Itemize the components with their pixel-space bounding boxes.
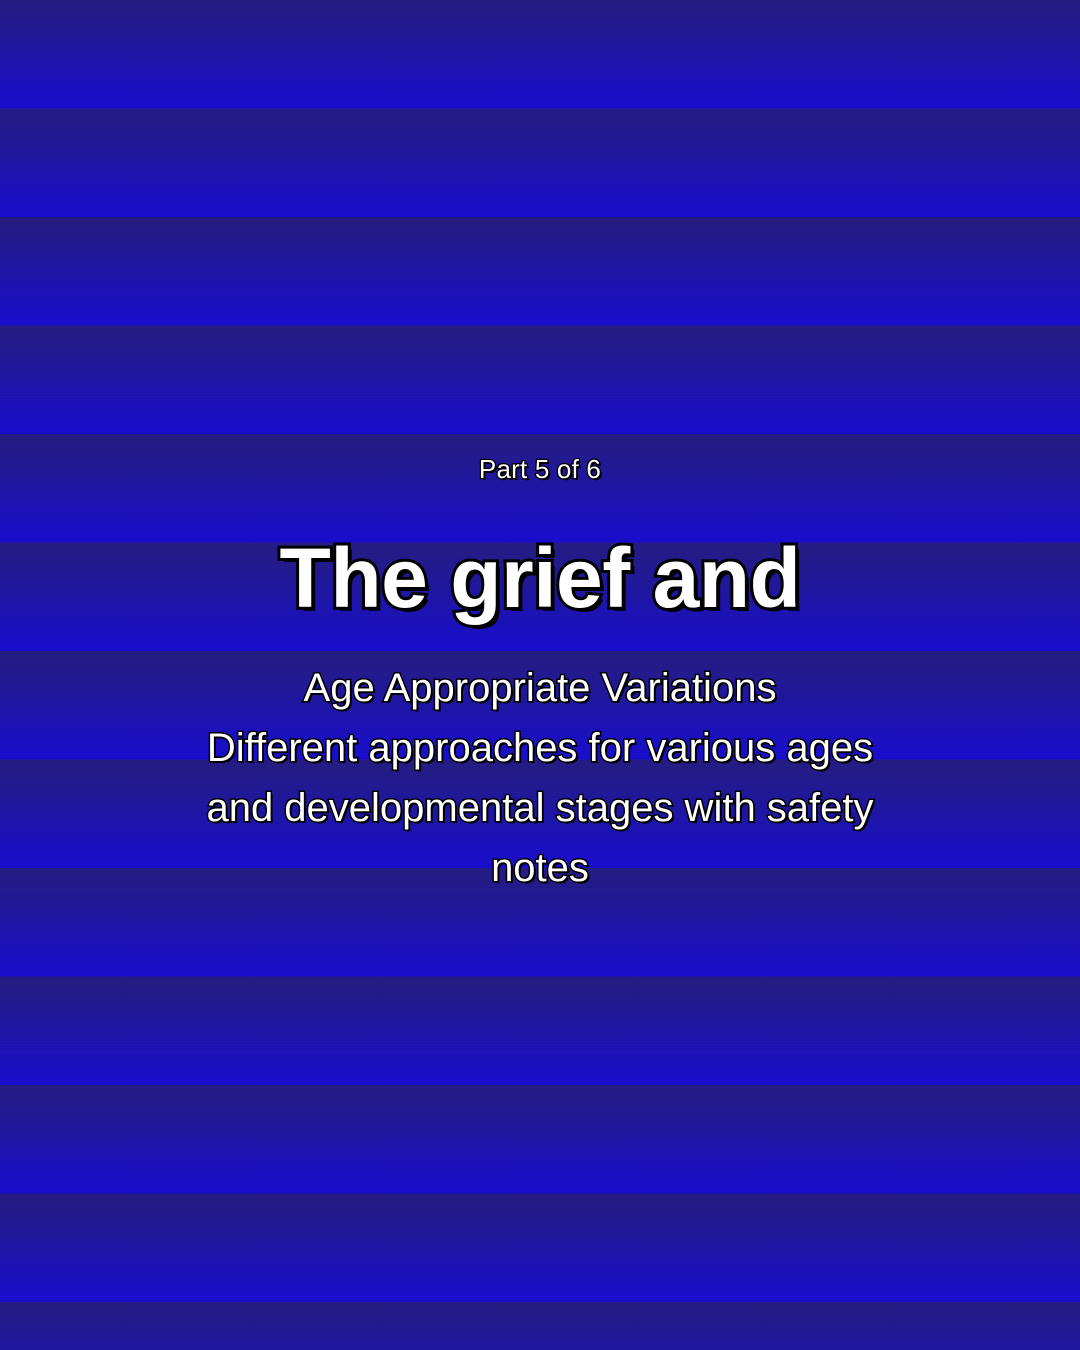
subtitle-line: Age Appropriate Variations [206,658,873,718]
title-card-slide: Part 5 of 6 The grief and Age Appropriat… [0,0,1080,1350]
part-indicator: Part 5 of 6 [479,452,601,486]
slide-subtitle: Age Appropriate Variations Different app… [206,658,873,898]
slide-content: Part 5 of 6 The grief and Age Appropriat… [0,0,1080,1350]
subtitle-line: notes [206,838,873,898]
subtitle-line: Different approaches for various ages [206,718,873,778]
subtitle-line: and developmental stages with safety [206,778,873,838]
slide-title: The grief and [280,532,801,624]
